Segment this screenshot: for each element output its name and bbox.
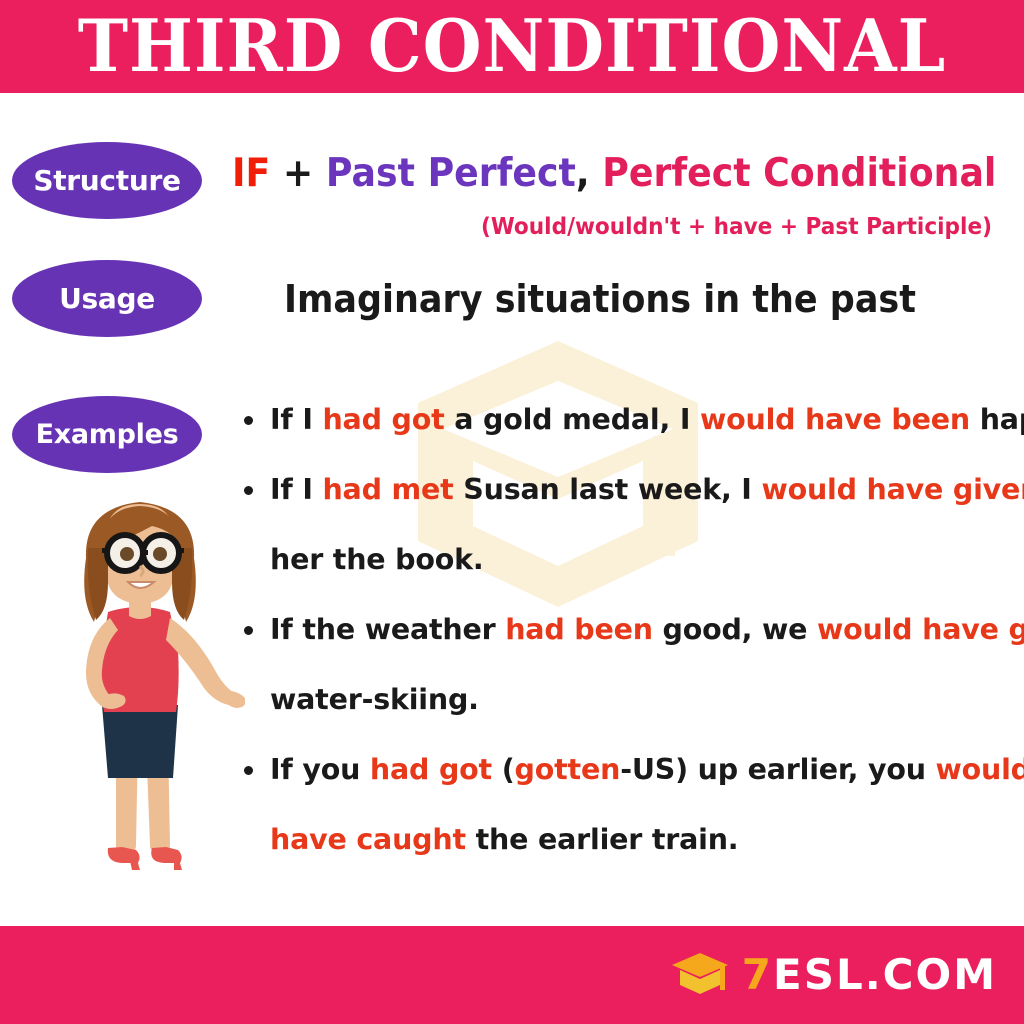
- structure-plus: +: [270, 151, 326, 196]
- example-text-run: had got: [322, 403, 444, 436]
- header-band: THIRD CONDITIONAL: [0, 0, 1024, 93]
- example-line-1: If I had met Susan last week, I would ha…: [270, 455, 1018, 525]
- structure-perfect-conditional: Perfect Conditional: [602, 151, 996, 196]
- example-line-2: her the book.: [270, 525, 1018, 595]
- example-text-run: would have given: [761, 473, 1024, 506]
- bullet-icon: [244, 766, 253, 775]
- example-text-run: If I: [270, 403, 322, 436]
- example-text-run: the earlier train.: [466, 823, 739, 856]
- example-text-run: Susan last week, I: [454, 473, 762, 506]
- bullet-icon: [244, 626, 253, 635]
- example-line-1: If the weather had been good, we would h…: [270, 595, 1018, 665]
- example-text-run: her the book.: [270, 543, 484, 576]
- example-text-run: -US) up earlier, you: [620, 753, 935, 786]
- structure-comma: ,: [576, 151, 602, 196]
- example-item: If you had got (gotten-US) up earlier, y…: [238, 735, 1018, 875]
- structure-if: IF: [232, 151, 270, 196]
- logo-wordmark: 7ESL.COM: [742, 954, 997, 996]
- bullet-icon: [244, 486, 253, 495]
- example-line-2: have caught the earlier train.: [270, 805, 1018, 875]
- example-text-run: would have been: [700, 403, 970, 436]
- structure-past-perfect: Past Perfect: [326, 151, 576, 196]
- example-text-run: had met: [322, 473, 453, 506]
- site-logo[interactable]: 7ESL.COM: [670, 944, 997, 1006]
- badge-usage: Usage: [12, 260, 202, 337]
- bullet-icon: [244, 416, 253, 425]
- example-item: If I had got a gold medal, I would have …: [238, 385, 1018, 455]
- example-text-run: a gold medal, I: [445, 403, 700, 436]
- usage-text: Imaginary situations in the past: [284, 276, 916, 322]
- badge-examples: Examples: [12, 396, 202, 473]
- badge-examples-label: Examples: [36, 419, 179, 450]
- teacher-character-illustration: [30, 490, 245, 890]
- example-text-run: would have gone: [817, 613, 1024, 646]
- example-text-run: gotten: [515, 753, 621, 786]
- example-text-run: would: [936, 753, 1024, 786]
- example-text-run: water-skiing.: [270, 683, 479, 716]
- example-text-run: If you: [270, 753, 370, 786]
- badge-structure: Structure: [12, 142, 202, 219]
- example-text-run: If I: [270, 473, 322, 506]
- example-text-run: If the weather: [270, 613, 505, 646]
- logo-seven: 7: [742, 950, 773, 999]
- logo-rest: ESL.COM: [773, 950, 997, 999]
- page-title: THIRD CONDITIONAL: [78, 10, 946, 82]
- badge-usage-label: Usage: [59, 282, 155, 315]
- example-text-run: good, we: [653, 613, 817, 646]
- main-canvas: Structure Usage Examples IF + Past Perfe…: [0, 93, 1024, 926]
- example-item: If I had met Susan last week, I would ha…: [238, 455, 1018, 595]
- examples-list: If I had got a gold medal, I would have …: [238, 385, 1018, 875]
- structure-formula: IF + Past Perfect, Perfect Conditional: [232, 151, 957, 197]
- example-line-1: If you had got (gotten-US) up earlier, y…: [270, 735, 1018, 805]
- example-text-run: have caught: [270, 823, 466, 856]
- graduation-cap-icon: [670, 951, 730, 999]
- example-text-run: (: [492, 753, 515, 786]
- example-text-run: had been: [505, 613, 653, 646]
- structure-subtitle: (Would/wouldn't + have + Past Participle…: [278, 214, 992, 240]
- example-text-run: happy.: [970, 403, 1024, 436]
- footer-band: 7ESL.COM: [0, 926, 1024, 1024]
- example-line-2: water-skiing.: [270, 665, 1018, 735]
- example-line-1: If I had got a gold medal, I would have …: [270, 385, 1018, 455]
- example-item: If the weather had been good, we would h…: [238, 595, 1018, 735]
- badge-structure-label: Structure: [33, 164, 180, 197]
- example-text-run: had got: [370, 753, 492, 786]
